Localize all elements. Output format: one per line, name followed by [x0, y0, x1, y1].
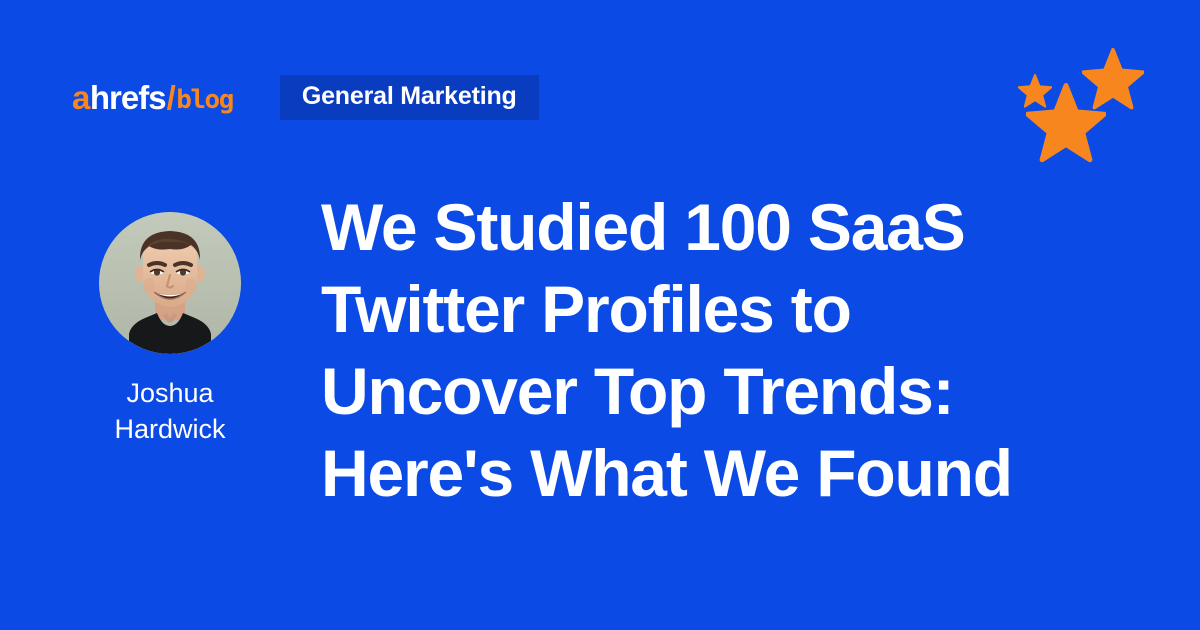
author-block: Joshua Hardwick [70, 212, 270, 447]
author-name: Joshua Hardwick [95, 376, 245, 447]
category-badge[interactable]: General Marketing [280, 75, 539, 120]
star-medium-icon [1082, 48, 1144, 110]
logo-word-hrefs: hrefs [90, 81, 166, 114]
avatar [99, 212, 241, 354]
logo-word-blog: blog [176, 87, 233, 113]
page-title: We Studied 100 SaaS Twitter Profiles to … [321, 186, 1141, 514]
avatar-photo [99, 212, 241, 354]
star-small-icon [1018, 74, 1052, 108]
ahrefs-blog-logo[interactable]: ahrefs/blog [72, 81, 233, 114]
social-share-card: ahrefs/blog General Marketing [0, 0, 1200, 630]
logo-letter-a: a [72, 81, 90, 114]
header-row: ahrefs/blog General Marketing [72, 74, 539, 120]
star-large-icon [1026, 83, 1106, 163]
stars-decoration [1008, 28, 1178, 168]
logo-separator-slash: / [167, 81, 176, 114]
